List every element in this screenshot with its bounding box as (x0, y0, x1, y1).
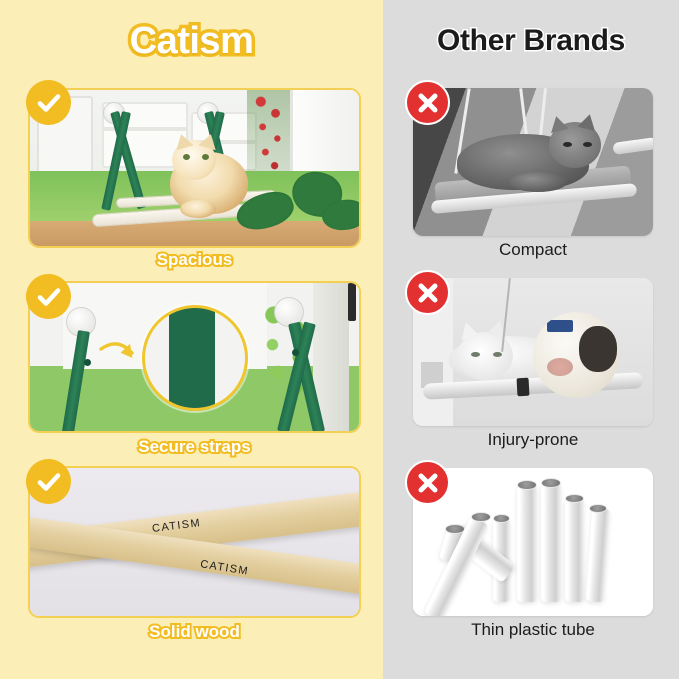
cat-eye-right (202, 154, 209, 160)
catism-card-spacious[interactable] (28, 88, 361, 248)
check-badge-solid-wood (26, 459, 71, 504)
magnifier-callout (142, 305, 248, 411)
tube-opening-c (565, 494, 584, 503)
tube-opening-b (541, 478, 561, 488)
comparison-infographic: Catism (0, 0, 679, 679)
tabby-paws (509, 172, 567, 192)
catism-title: Catism (130, 20, 254, 63)
scene-secure-straps (30, 283, 359, 431)
white-cat-eye-left (471, 352, 480, 357)
tube-vertical-b (541, 482, 561, 602)
caption-injury-prone: Injury-prone (393, 430, 673, 450)
cross-badge-thin-plastic-tube (405, 460, 450, 505)
cross-badge-injury-prone (405, 270, 450, 315)
caption-thin-plastic-tube: Thin plastic tube (393, 620, 673, 640)
cat-eye-left (183, 154, 190, 160)
check-icon (36, 90, 62, 116)
tabby-eye-right (583, 142, 592, 147)
catism-card-secure-straps[interactable] (28, 281, 361, 433)
tube-joint-clip (517, 378, 530, 397)
injury-magnifier-callout (533, 312, 619, 398)
scene-solid-wood: CATISM CATISM (30, 468, 359, 616)
scene-compact (413, 88, 653, 236)
caption-secure-straps: Secure straps (28, 437, 361, 457)
catism-card-solid-wood[interactable]: CATISM CATISM (28, 466, 361, 618)
check-badge-spacious (26, 80, 71, 125)
scene-injury-prone (413, 278, 653, 426)
cat-paws (180, 200, 216, 218)
catism-heading-zone: Catism (0, 0, 383, 82)
tabby-eye-left (563, 142, 572, 147)
check-badge-secure-straps (26, 274, 71, 319)
scene-thin-plastic-tube (413, 468, 653, 616)
caption-compact: Compact (393, 240, 673, 260)
window-latch (348, 283, 356, 321)
callout-arrow-icon (98, 339, 150, 373)
other-brands-column: Other Brands (383, 0, 679, 679)
tube-opening-d (589, 504, 607, 513)
other-brands-title: Other Brands (437, 24, 625, 58)
other-card-thin-plastic-tube[interactable] (413, 468, 653, 616)
tube-opening-a (517, 480, 537, 490)
scene-spacious (30, 90, 359, 246)
other-brands-heading-zone: Other Brands (383, 0, 679, 82)
other-card-injury-prone[interactable] (413, 278, 653, 426)
white-cat-eye-right (493, 352, 502, 357)
tube-opening-e (493, 514, 510, 523)
injury-wound-mark (547, 358, 573, 376)
tube-vertical-a (517, 484, 537, 602)
wooden-floor (30, 221, 359, 246)
injury-dark-patch (579, 326, 617, 372)
cross-badge-compact (405, 80, 450, 125)
caption-spacious: Spacious (28, 250, 361, 270)
white-cat-head (457, 332, 513, 380)
tube-vertical-c (565, 498, 584, 602)
check-icon (36, 469, 62, 495)
caption-solid-wood: Solid wood (28, 622, 361, 642)
cross-icon (416, 91, 440, 115)
check-icon (36, 284, 62, 310)
strap-rivet-near (84, 359, 91, 366)
cross-icon (416, 471, 440, 495)
tube-diagonal-opening (471, 512, 491, 522)
injury-blue-tag (547, 320, 573, 332)
other-card-compact[interactable] (413, 88, 653, 236)
catism-column: Catism (0, 0, 383, 679)
strap-rivet-far (292, 349, 299, 356)
cross-icon (416, 281, 440, 305)
